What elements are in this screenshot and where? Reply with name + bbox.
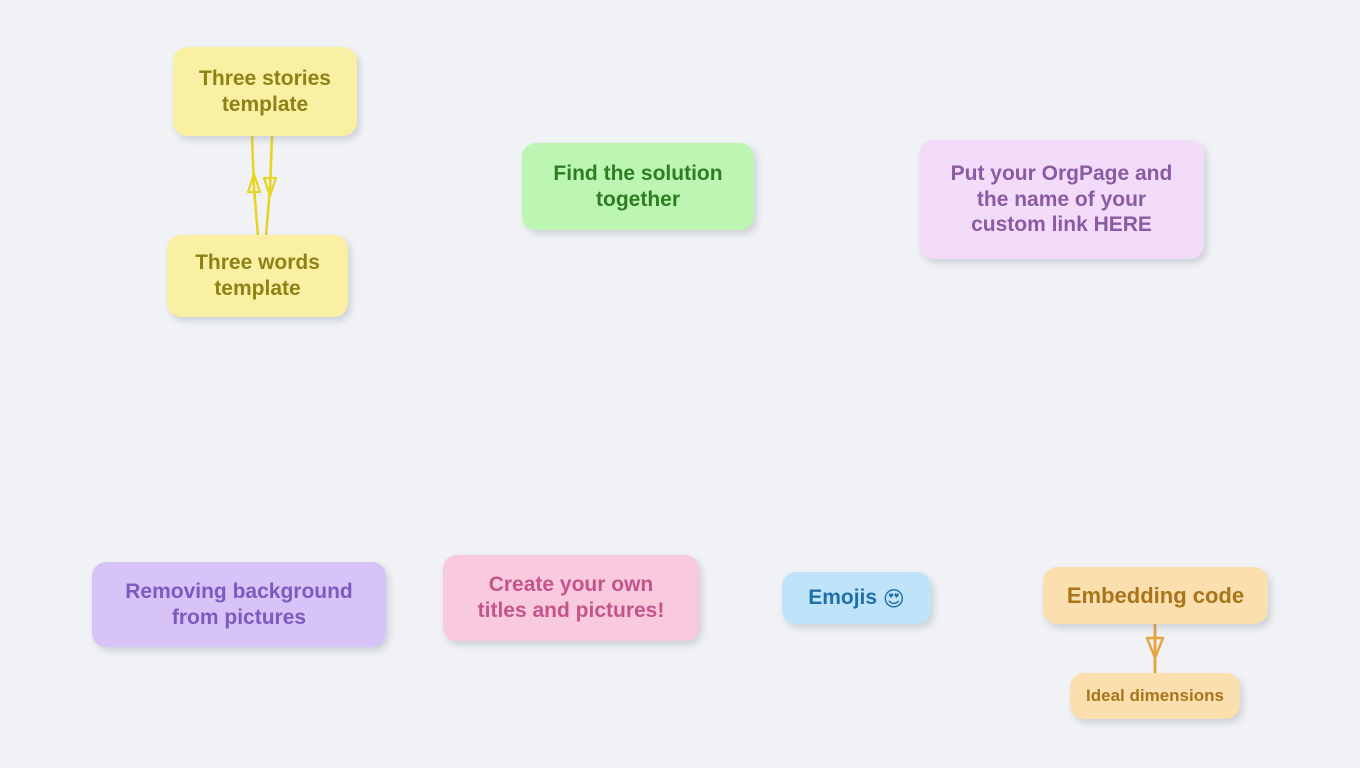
node-label-text: Emojis <box>808 586 883 609</box>
node-label: Removing background from pictures <box>106 579 372 631</box>
node-label: Ideal dimensions <box>1084 686 1226 707</box>
mindmap-board[interactable]: Three stories template Three words templ… <box>0 0 1360 768</box>
node-label: Embedding code <box>1057 582 1254 609</box>
node-removing-background-from-pictures[interactable]: Removing background from pictures <box>92 562 386 647</box>
node-embedding-code[interactable]: Embedding code <box>1043 567 1268 624</box>
node-three-words-template[interactable]: Three words template <box>167 235 348 317</box>
node-put-your-orgpage[interactable]: Put your OrgPage and the name of your cu… <box>919 140 1204 259</box>
node-label: Find the solution together <box>536 161 740 213</box>
node-emojis[interactable]: Emojis 😍 <box>782 572 931 624</box>
heart-eyes-emoji-icon: 😍 <box>883 587 905 611</box>
node-label: Three words template <box>181 250 334 302</box>
node-find-the-solution-together[interactable]: Find the solution together <box>522 143 754 230</box>
edge-stories-to-words <box>264 137 276 236</box>
node-label: Create your own titles and pictures! <box>457 572 685 624</box>
node-create-your-own-titles-and-pictures[interactable]: Create your own titles and pictures! <box>443 555 699 641</box>
edge-embedding-to-ideal <box>1147 624 1163 674</box>
node-label: Emojis 😍 <box>796 585 917 611</box>
node-label: Three stories template <box>187 66 343 118</box>
node-label: Put your OrgPage and the name of your cu… <box>933 161 1190 238</box>
edge-words-to-stories <box>248 137 260 236</box>
node-ideal-dimensions[interactable]: Ideal dimensions <box>1070 673 1240 719</box>
node-three-stories-template[interactable]: Three stories template <box>173 47 357 136</box>
